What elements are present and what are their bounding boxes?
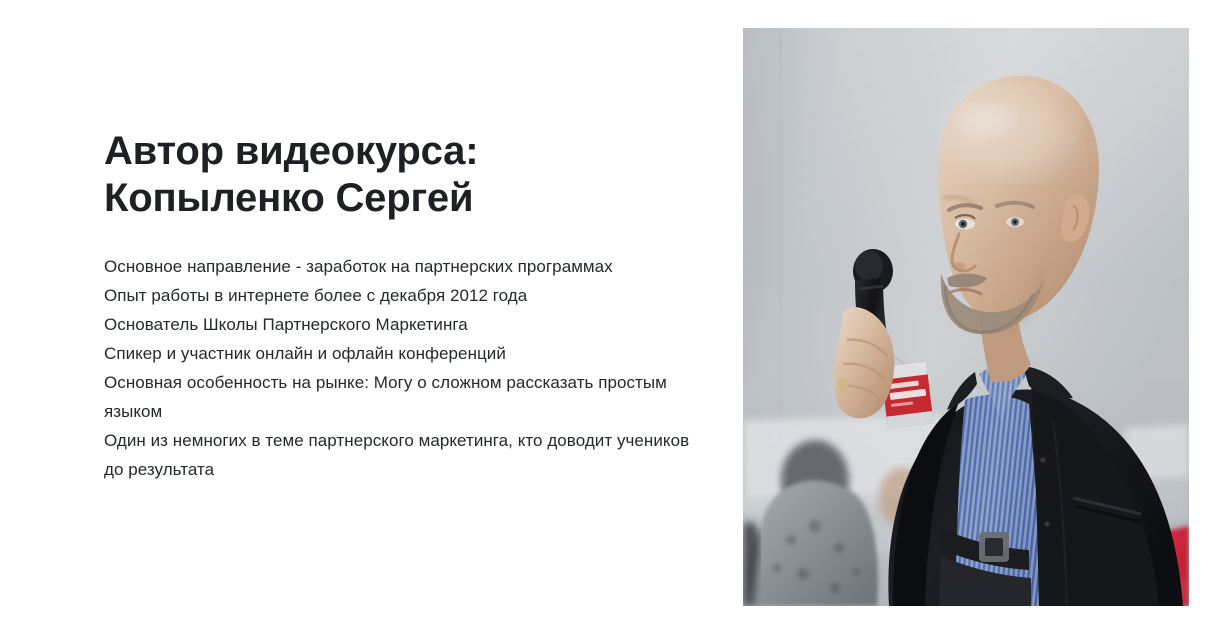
speaker-photo-image [743, 28, 1189, 606]
list-item: Основная особенность на рынке: Могу о сл… [104, 368, 694, 426]
list-item: Спикер и участник онлайн и офлайн конфер… [104, 339, 694, 368]
list-item: Основное направление - заработок на парт… [104, 252, 694, 281]
page-title: Автор видеокурса: Копыленко Сергей [104, 128, 694, 222]
list-item: Опыт работы в интернете более с декабря … [104, 281, 694, 310]
slide-root: Автор видеокурса: Копыленко Сергей Основ… [0, 0, 1212, 628]
text-column: Автор видеокурса: Копыленко Сергей Основ… [104, 128, 694, 484]
list-item: Основатель Школы Партнерского Маркетинга [104, 310, 694, 339]
list-item: Один из немногих в теме партнерского мар… [104, 426, 694, 484]
bio-list: Основное направление - заработок на парт… [104, 252, 694, 484]
speaker-photo [743, 28, 1189, 606]
